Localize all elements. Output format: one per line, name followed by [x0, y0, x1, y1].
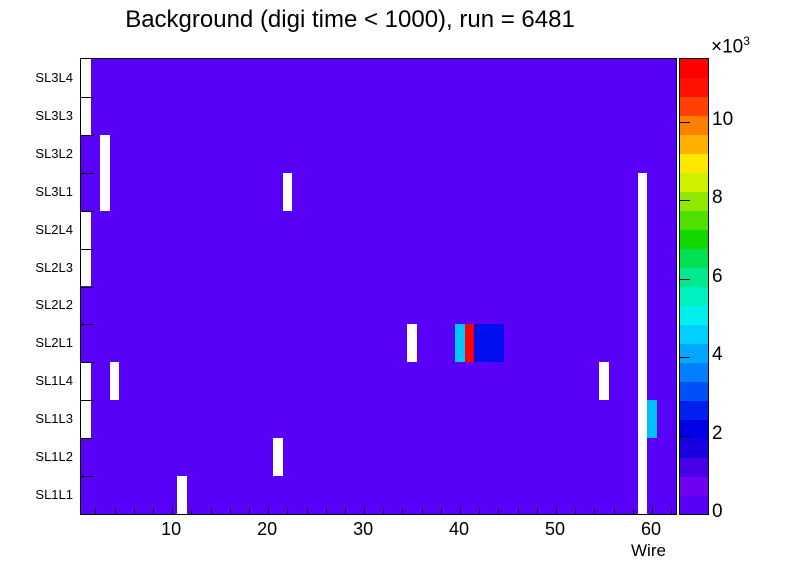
color-scale-band: [680, 173, 708, 192]
color-scale-band: [680, 495, 708, 514]
color-scale-band: [680, 362, 708, 381]
y-axis-label-sl1l3: SL1L3: [3, 411, 73, 426]
y-axis-label-sl1l1: SL1L1: [3, 487, 73, 502]
color-scale-band: [680, 287, 708, 306]
color-scale-band: [680, 192, 708, 211]
x-axis-tick-label: 20: [237, 519, 297, 540]
color-scale-tick-label: 10: [712, 109, 733, 131]
color-scale-tick: [680, 357, 690, 358]
x-axis-tick-label: 40: [429, 519, 489, 540]
color-scale-band: [680, 457, 708, 476]
color-scale-band: [680, 59, 708, 78]
color-scale-tick-label: 2: [712, 423, 723, 445]
color-scale-band: [680, 116, 708, 135]
x-axis-tick-label: 60: [621, 519, 681, 540]
color-scale-band: [680, 135, 708, 154]
y-axis-label-sl2l3: SL2L3: [3, 260, 73, 275]
color-scale-tick-label: 0: [712, 501, 723, 523]
y-axis-label-sl2l4: SL2L4: [3, 222, 73, 237]
color-scale-bar[interactable]: [679, 58, 709, 515]
y-axis-labels: SL1L1SL1L2SL1L3SL1L4SL2L1SL2L2SL2L3SL2L4…: [0, 0, 796, 572]
color-scale-band: [680, 400, 708, 419]
color-scale-band: [680, 438, 708, 457]
x-axis-tick-label: 50: [525, 519, 585, 540]
color-scale-band: [680, 324, 708, 343]
y-axis-label-sl3l2: SL3L2: [3, 146, 73, 161]
y-axis-label-sl2l1: SL2L1: [3, 335, 73, 350]
color-scale-band: [680, 343, 708, 362]
y-axis-label-sl3l3: SL3L3: [3, 108, 73, 123]
color-scale-band: [680, 78, 708, 97]
y-axis-label-sl1l4: SL1L4: [3, 373, 73, 388]
root-canvas: Background (digi time < 1000), run = 648…: [0, 0, 796, 572]
color-scale-tick: [680, 200, 690, 201]
color-scale-band: [680, 381, 708, 400]
color-scale-band: [680, 230, 708, 249]
x-axis-tick-label: 10: [141, 519, 201, 540]
color-scale-exponent-power: 3: [743, 34, 750, 48]
color-scale-tick-label: 4: [712, 344, 723, 366]
color-scale-tick: [680, 436, 690, 437]
color-scale-band: [680, 211, 708, 230]
y-axis-label-sl3l1: SL3L1: [3, 184, 73, 199]
color-scale-tick: [680, 279, 690, 280]
color-scale-band: [680, 154, 708, 173]
color-scale-tick: [680, 514, 690, 515]
color-scale-band: [680, 268, 708, 287]
y-axis-label-sl3l4: SL3L4: [3, 70, 73, 85]
color-scale-tick-label: 6: [712, 266, 723, 288]
color-scale-exponent: ×103: [711, 34, 750, 58]
color-scale-tick: [680, 122, 690, 123]
color-scale-band: [680, 305, 708, 324]
y-axis-label-sl2l2: SL2L2: [3, 297, 73, 312]
color-scale-tick-label: 8: [712, 187, 723, 209]
x-axis-tick-label: 30: [333, 519, 393, 540]
y-axis-label-sl1l2: SL1L2: [3, 449, 73, 464]
color-scale-band: [680, 249, 708, 268]
color-scale-band: [680, 476, 708, 495]
color-scale-exponent-text: ×10: [711, 36, 743, 57]
color-scale-band: [680, 97, 708, 116]
x-axis-title: Wire: [631, 541, 666, 561]
